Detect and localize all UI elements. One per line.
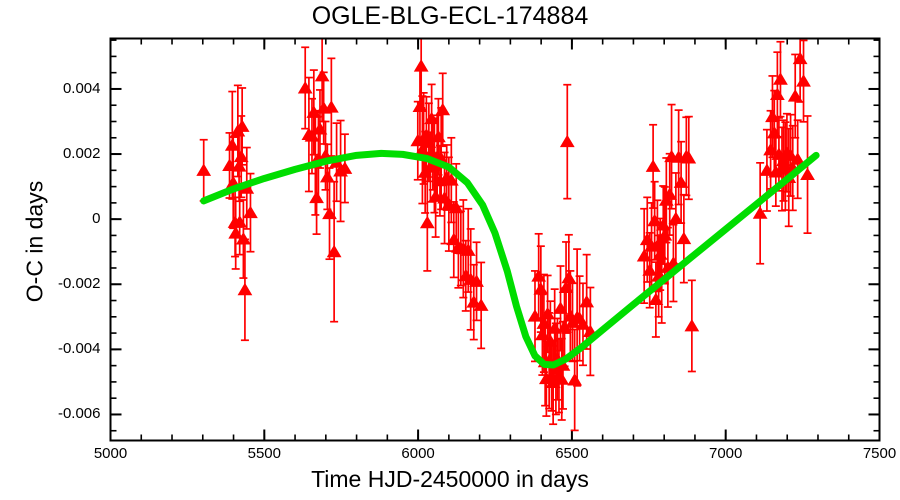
y-tick-label: 0 — [3, 210, 101, 227]
triangle-marker — [197, 164, 210, 175]
triangle-marker — [321, 171, 334, 182]
triangle-marker — [677, 233, 690, 244]
x-tick-label: 5000 — [71, 445, 151, 462]
triangle-marker — [561, 136, 574, 147]
triangle-marker — [568, 374, 581, 385]
triangle-marker — [685, 320, 698, 331]
triangle-marker — [774, 73, 787, 84]
triangle-marker — [235, 151, 248, 162]
triangle-marker — [528, 310, 541, 321]
y-tick-label: 0.002 — [3, 145, 101, 162]
x-tick-label: 7000 — [686, 445, 766, 462]
y-tick-label: -0.006 — [3, 405, 101, 422]
triangle-marker — [643, 264, 656, 275]
triangle-marker — [226, 139, 239, 150]
triangle-marker — [647, 160, 660, 171]
triangle-marker — [310, 192, 323, 203]
y-tick-label: -0.002 — [3, 275, 101, 292]
triangle-marker — [534, 283, 547, 294]
x-tick-label: 6000 — [378, 445, 458, 462]
plot-canvas — [0, 0, 900, 500]
x-tick-label: 5500 — [224, 445, 304, 462]
data-marker-layer — [197, 53, 814, 388]
y-tick-label: -0.004 — [3, 340, 101, 357]
triangle-marker — [580, 296, 593, 307]
triangle-marker — [649, 294, 662, 305]
fit-curve-layer — [204, 153, 816, 365]
triangle-marker — [797, 75, 810, 86]
triangle-marker — [421, 217, 434, 228]
x-tick-label: 6500 — [532, 445, 612, 462]
chart-figure: OGLE-BLG-ECL-174884 Time HJD-2450000 in … — [0, 0, 900, 500]
triangle-marker — [648, 215, 661, 226]
triangle-marker — [244, 207, 257, 218]
triangle-marker — [238, 284, 251, 295]
triangle-marker — [562, 272, 575, 283]
fit-curve — [204, 153, 816, 365]
triangle-marker — [415, 60, 428, 71]
errorbar-layer — [200, 15, 812, 430]
triangle-marker — [299, 82, 312, 93]
y-tick-label: 0.004 — [3, 80, 101, 97]
x-tick-label: 7500 — [840, 445, 900, 462]
